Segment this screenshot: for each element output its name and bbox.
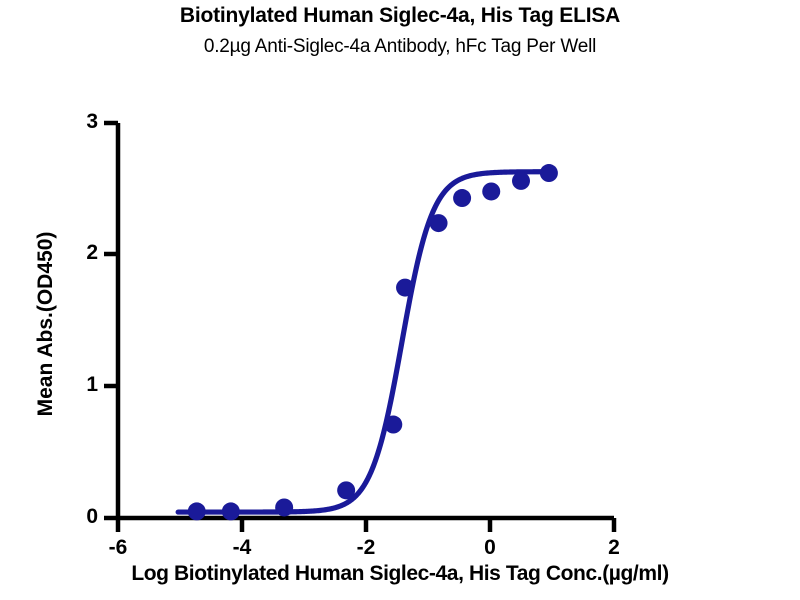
data-point [222, 502, 240, 520]
x-axis-label: Log Biotinylated Human Siglec-4a, His Ta… [0, 562, 800, 586]
plot-area [0, 0, 800, 600]
data-point [482, 182, 500, 200]
y-axis-label: Mean Abs.(OD450) [34, 174, 58, 474]
data-series-curve [178, 172, 552, 512]
x-tick-label-neg4: -4 [222, 536, 262, 560]
y-tick-label-2: 2 [68, 241, 98, 265]
elisa-chart-figure: Biotinylated Human Siglec-4a, His Tag EL… [0, 0, 800, 600]
data-point [540, 164, 558, 182]
data-point [275, 498, 293, 516]
x-tick-label-neg6: -6 [98, 536, 138, 560]
y-tick-label-1: 1 [68, 373, 98, 397]
axis-lines [116, 123, 614, 518]
x-tick-label-2: 2 [594, 536, 634, 560]
x-tick-label-neg2: -2 [346, 536, 386, 560]
x-tick-label-0: 0 [470, 536, 510, 560]
y-tick-label-0: 0 [68, 505, 98, 529]
data-point [512, 172, 530, 190]
data-point [384, 416, 402, 434]
data-point [188, 502, 206, 520]
data-point [337, 481, 355, 499]
data-point [430, 214, 448, 232]
data-point [396, 279, 414, 297]
data-point [453, 189, 471, 207]
y-tick-label-3: 3 [68, 110, 98, 134]
